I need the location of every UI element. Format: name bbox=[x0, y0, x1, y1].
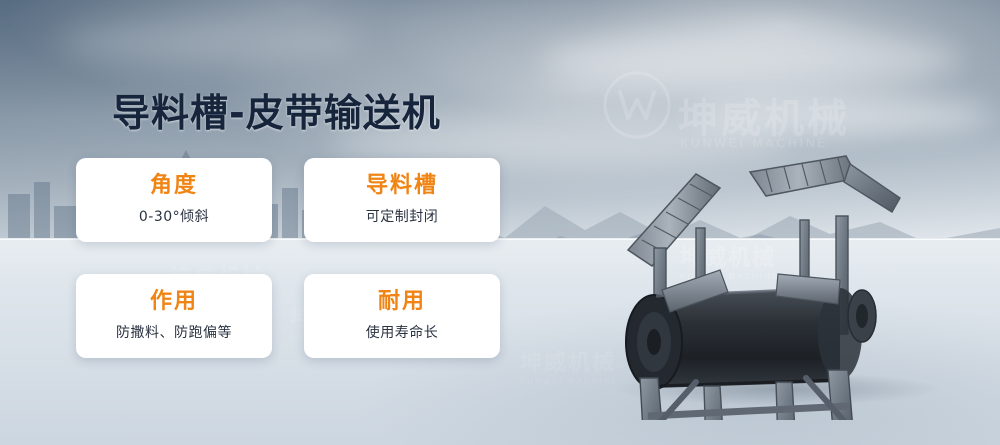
feature-card-function[interactable]: 作用 防撒料、防跑偏等 bbox=[76, 274, 272, 358]
feature-card-title: 作用 bbox=[150, 290, 198, 314]
page-title: 导料槽-皮带输送机 bbox=[112, 82, 441, 137]
feature-card-desc: 0-30°倾斜 bbox=[139, 206, 209, 226]
product-banner: 坤威机械 KUNWEI MACHINE 坤威机械 KUNWEI MACHINE … bbox=[0, 0, 1000, 445]
belt-conveyor-illustration bbox=[600, 120, 940, 420]
cloud-streak bbox=[540, 30, 960, 90]
feature-card-desc: 可定制封闭 bbox=[366, 206, 439, 226]
feature-card-angle[interactable]: 角度 0-30°倾斜 bbox=[76, 158, 272, 242]
guide-chute-left bbox=[628, 174, 720, 266]
feature-card-durability[interactable]: 耐用 使用寿命长 bbox=[304, 274, 500, 358]
feature-card-title: 导料槽 bbox=[366, 174, 438, 198]
feature-card-desc: 防撒料、防跑偏等 bbox=[116, 322, 232, 342]
feature-card-chute[interactable]: 导料槽 可定制封闭 bbox=[304, 158, 500, 242]
drive-roller bbox=[848, 290, 876, 342]
feature-card-title: 耐用 bbox=[378, 290, 426, 314]
guide-chute-right bbox=[750, 156, 900, 212]
feature-card-desc: 使用寿命长 bbox=[366, 322, 439, 342]
feature-card-title: 角度 bbox=[150, 174, 198, 198]
cloud-streak bbox=[60, 20, 360, 64]
conveyor-drum bbox=[626, 288, 862, 389]
